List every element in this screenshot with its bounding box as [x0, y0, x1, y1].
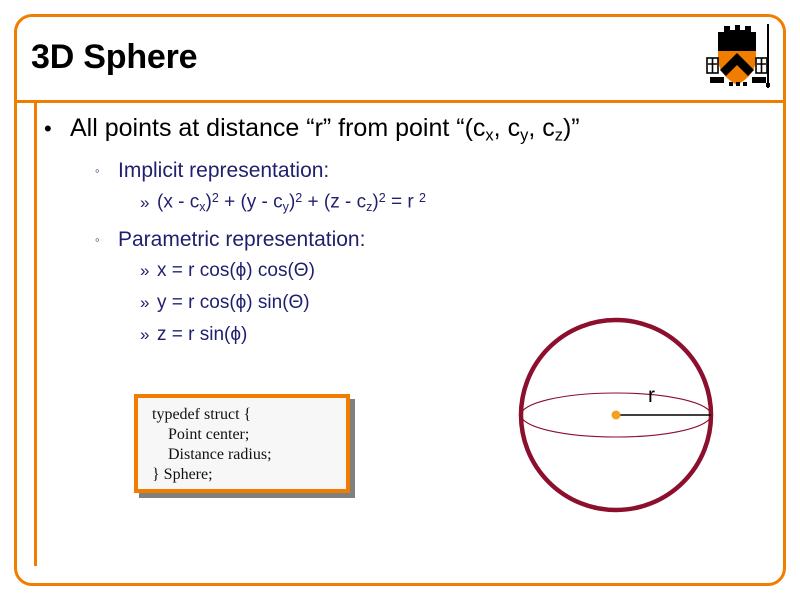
- bullet-marker-level2: ◦: [95, 232, 118, 247]
- parametric-z-text: z = r sin(ϕ): [157, 324, 247, 345]
- eq-part-1: (x - c: [157, 192, 199, 213]
- bullet-marker-level3: »: [140, 293, 157, 313]
- implicit-equation-line: »(x - cx)2 + (y - cy)2 + (z - cz)2 = r 2: [140, 191, 426, 214]
- radius-label: r: [648, 384, 655, 408]
- eq-exp-1: 2: [212, 191, 219, 205]
- parametric-equation-y: »y = r cos(ϕ) sin(Θ): [140, 292, 310, 314]
- bullet-marker-level3: »: [140, 325, 157, 345]
- bullet-marker-level2: ◦: [95, 163, 118, 178]
- parametric-x-text: x = r cos(ϕ) cos(Θ): [157, 260, 315, 281]
- slide-canvas: 3D Sphere: [0, 0, 800, 600]
- main-point-text-mid1: , c: [494, 114, 520, 142]
- parametric-y-text: y = r cos(ϕ) sin(Θ): [157, 292, 310, 313]
- eq-part-7: = r: [386, 192, 419, 213]
- main-point-sub-x: x: [485, 127, 493, 145]
- eq-part-3: + (y - c: [219, 192, 283, 213]
- bullet-implicit-representation: ◦Implicit representation:: [95, 159, 329, 183]
- bullet-marker-level1: •: [44, 116, 70, 142]
- bullet-main-point: •All points at distance “r” from point “…: [44, 114, 580, 146]
- bullet-marker-level3: »: [140, 193, 157, 213]
- parametric-equation-x: »x = r cos(ϕ) cos(Θ): [140, 260, 315, 282]
- main-point-text-mid2: , c: [528, 114, 554, 142]
- main-point-sub-z: z: [555, 127, 563, 145]
- main-point-text-pre: All points at distance “r” from point “(…: [70, 114, 485, 142]
- eq-exp-3: 2: [379, 191, 386, 205]
- sphere-diagram: [505, 305, 725, 520]
- sphere-center-dot: [612, 411, 621, 420]
- bullet-marker-level3: »: [140, 261, 157, 281]
- main-point-text-post: )”: [563, 114, 580, 142]
- code-snippet-text: typedef struct { Point center; Distance …: [152, 405, 272, 485]
- code-box: typedef struct { Point center; Distance …: [134, 394, 350, 493]
- parametric-heading-text: Parametric representation:: [118, 228, 365, 251]
- parametric-equation-z: »z = r sin(ϕ): [140, 324, 247, 346]
- eq-part-5: + (z - c: [302, 192, 366, 213]
- implicit-heading-text: Implicit representation:: [118, 159, 329, 182]
- bullet-parametric-representation: ◦Parametric representation:: [95, 228, 365, 252]
- eq-exp-4: 2: [419, 191, 426, 205]
